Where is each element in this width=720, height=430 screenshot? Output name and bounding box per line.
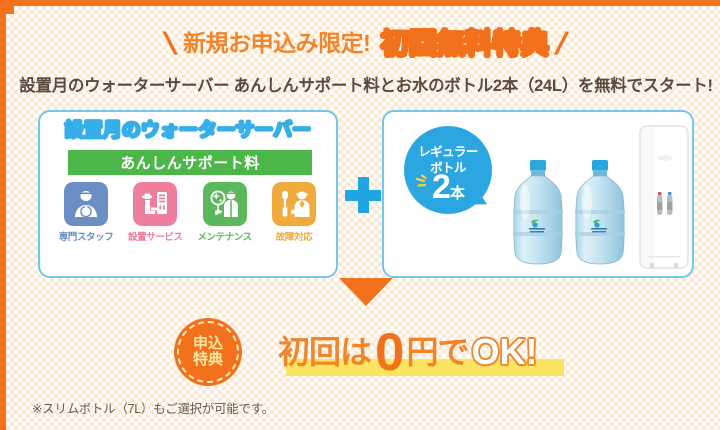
bottle-count-bubble: レギュラー ボトル 2本 xyxy=(404,126,492,214)
repair-icon xyxy=(272,182,316,226)
support-fee-bar: あんしんサポート料 xyxy=(68,150,312,175)
offer-badge-line1: 申込 xyxy=(193,336,223,353)
feature-label-repair: 故障対応 xyxy=(262,229,326,243)
headline-prefix: 新規お申込み限定! xyxy=(183,32,370,55)
footnote: ※スリムボトル（7L）もご選択が可能です。 xyxy=(32,398,274,417)
subheadline: 設置月のウォーターサーバー あんしんサポート料とお水のボトル2本（24L）を無料… xyxy=(6,72,720,96)
bubble-count: 2本 xyxy=(404,170,492,204)
slash-left-decoration: \ xyxy=(161,28,180,59)
arrow-down-icon xyxy=(339,278,393,306)
cta-prefix: 初回は xyxy=(278,336,371,368)
headline-emphasis: 初回無料特典 xyxy=(381,30,549,58)
installation-icon xyxy=(133,182,177,226)
cta-zero: 0 xyxy=(375,326,404,379)
feature-item-maintenance: メンテナンス xyxy=(193,182,257,243)
promotional-banner: \ 新規お申込み限定! 初回無料特典 / 設置月のウォーターサーバー あんしんサ… xyxy=(0,0,720,430)
headline: \ 新規お申込み限定! 初回無料特典 / xyxy=(6,28,720,59)
bubble-number: 2 xyxy=(432,168,450,206)
maintenance-icon xyxy=(203,182,247,226)
water-bottle-icon xyxy=(563,158,637,266)
cta-ok: OK! xyxy=(472,334,538,370)
support-fee-label: あんしんサポート料 xyxy=(120,152,260,173)
staff-icon xyxy=(64,182,108,226)
slash-right-decoration: / xyxy=(552,28,571,59)
feature-label-maintenance: メンテナンス xyxy=(193,229,257,243)
plus-icon xyxy=(345,177,381,213)
left-panel-title: 設置月のウォーターサーバー xyxy=(40,120,336,143)
feature-item-installation: 設置サービス xyxy=(123,182,187,243)
feature-label-staff: 専門スタッフ xyxy=(54,229,118,243)
feature-label-installation: 設置サービス xyxy=(123,229,187,243)
bubble-unit: 本 xyxy=(450,185,464,202)
left-offer-panel: 設置月のウォーターサーバー あんしんサポート料 専門スタッフ xyxy=(38,110,338,278)
feature-item-repair: 故障対応 xyxy=(262,182,326,243)
offer-badge-line2: 特典 xyxy=(193,352,223,369)
feature-item-staff: 専門スタッフ xyxy=(54,182,118,243)
feature-icon-row: 専門スタッフ xyxy=(54,182,326,243)
cta-message: 初回は 0 円で OK! xyxy=(278,324,578,380)
water-server-icon xyxy=(638,124,690,270)
cta-yen: 円で xyxy=(407,336,469,368)
offer-badge: 申込 特典 xyxy=(174,318,242,386)
